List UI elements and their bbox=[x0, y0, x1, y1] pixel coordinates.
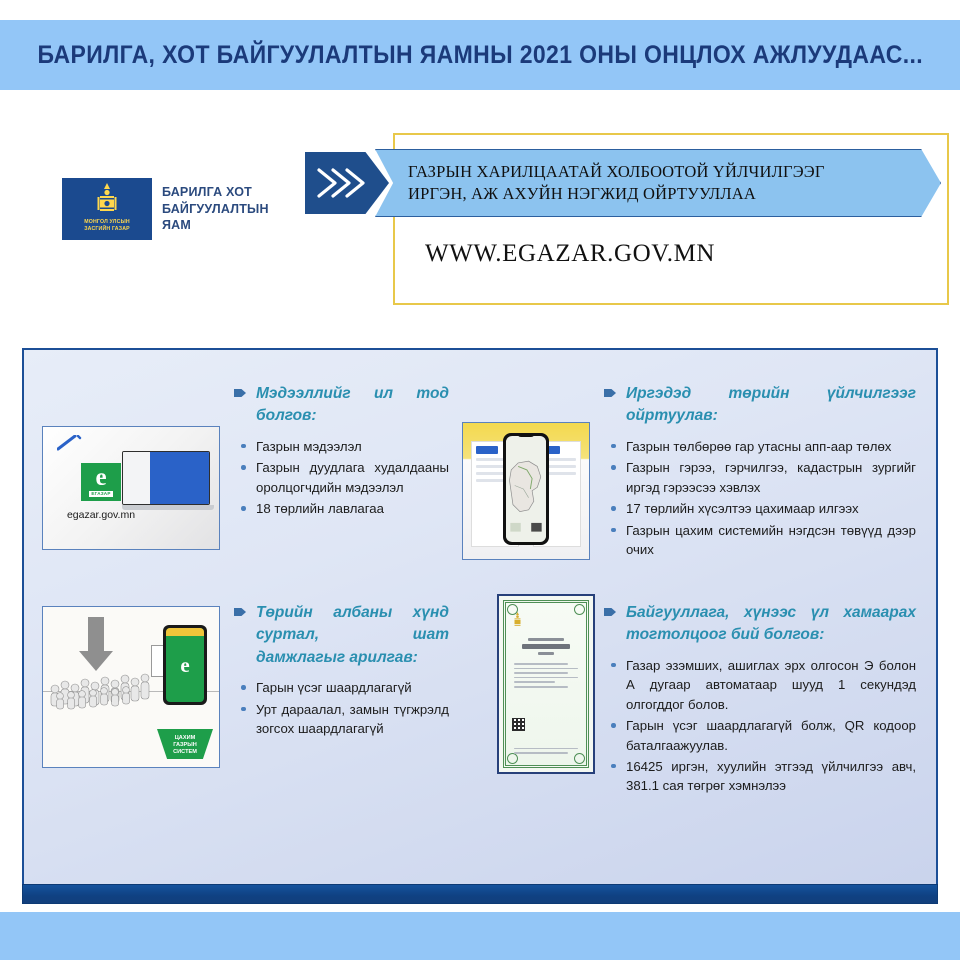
cert-field-line bbox=[514, 663, 568, 665]
laptop-screen bbox=[122, 451, 210, 505]
app-chip bbox=[476, 446, 498, 454]
soyombo-icon bbox=[94, 183, 120, 216]
phone-app-logo-letter: e bbox=[180, 653, 189, 678]
ministry-name-line1: БАРИЛГА ХОТ bbox=[162, 184, 269, 201]
laptop-base bbox=[122, 505, 214, 510]
egazar-logo-letter: e bbox=[95, 467, 106, 490]
cert-footer-group bbox=[512, 745, 580, 757]
laptop-screen-right bbox=[150, 452, 209, 504]
block-item-list: Газрын мэдээлэл Газрын дуудлага худалдаа… bbox=[234, 437, 449, 519]
website-url[interactable]: WWW.EGAZAR.GOV.MN bbox=[425, 240, 715, 268]
phone-notch bbox=[517, 433, 535, 437]
content-block-bureaucracy: Төрийн албаны хүнд суртал, шат дамжлагыг… bbox=[234, 602, 449, 741]
headline-line1: ГАЗРЫН ХАРИЛЦААТАЙ ХОЛБООТОЙ ҮЙЛЧИЛГЭЭГ bbox=[408, 161, 825, 183]
cert-field-line bbox=[514, 686, 568, 688]
list-item: Газар эзэмших, ашиглах эрх олгосон Э бол… bbox=[604, 656, 916, 714]
content-block-services-closer: Иргэдэд төрийн үйлчилгээг ойртуулав: Газ… bbox=[604, 383, 916, 561]
block-heading-row: Мэдээллийг ил тод болгов: bbox=[234, 383, 449, 428]
block-heading: Иргэдэд төрийн үйлчилгээг ойртуулав: bbox=[626, 383, 916, 428]
headline-arrow-banner: ГАЗРЫН ХАРИЛЦААТАЙ ХОЛБООТОЙ ҮЙЛЧИЛГЭЭГ … bbox=[375, 149, 941, 217]
image-land-certificate bbox=[497, 594, 595, 774]
cert-corner-ornament bbox=[574, 604, 585, 615]
page-title: БАРИЛГА, ХОТ БАЙГУУЛАЛТЫН ЯАМНЫ 2021 ОНЫ… bbox=[37, 41, 922, 70]
content-block-transparency: Мэдээллийг ил тод болгов: Газрын мэдээлэ… bbox=[234, 383, 449, 521]
list-item: Гарын үсэг шаардлагагүй болж, QR кодоор … bbox=[604, 716, 916, 755]
block-item-list: Газар эзэмших, ашиглах эрх олгосон Э бол… bbox=[604, 656, 916, 796]
image-queue-vs-app: e ЦАХИМ ГАЗРЫН СИСТЕМ bbox=[42, 606, 220, 768]
mongolia-map-icon bbox=[506, 436, 546, 542]
cert-field-line bbox=[514, 668, 578, 670]
ministry-name-line3: ЯАМ bbox=[162, 217, 269, 234]
smartphone-mockup bbox=[503, 433, 549, 545]
phone-app-topbar bbox=[166, 628, 204, 636]
cert-corner-ornament bbox=[507, 604, 518, 615]
arrow-bullet-icon bbox=[604, 389, 616, 397]
arrow-bullet-icon bbox=[234, 608, 246, 616]
cert-number-line bbox=[538, 652, 554, 655]
digital-land-system-badge: ЦАХИМ ГАЗРЫН СИСТЕМ bbox=[157, 729, 213, 759]
cert-field-group bbox=[512, 663, 580, 688]
phone-app-mockup: e bbox=[163, 625, 207, 705]
list-item: Газрын төлбөрөө гар утасны апп-аар төлөх bbox=[604, 437, 916, 456]
image-mobile-map-app bbox=[462, 422, 590, 560]
block-heading-row: Төрийн албаны хүнд суртал, шат дамжлагыг… bbox=[234, 602, 449, 669]
list-item: Газрын гэрээ, гэрчилгээ, кадастрын зурги… bbox=[604, 458, 916, 497]
page-footer-band bbox=[0, 912, 960, 960]
block-heading: Төрийн албаны хүнд суртал, шат дамжлагыг… bbox=[256, 602, 449, 669]
qr-code-icon bbox=[512, 718, 525, 731]
state-emblem: МОНГОЛ УЛСЫН ЗАСГИЙН ГАЗАР bbox=[62, 178, 152, 240]
block-heading: Мэдээллийг ил тод болгов: bbox=[256, 383, 449, 428]
badge-line1: ЦАХИМ bbox=[157, 735, 213, 742]
arrow-bullet-icon bbox=[604, 608, 616, 616]
list-item: Газрын дуудлага худалдааны оролцогчдийн … bbox=[234, 458, 449, 497]
emblem-caption-line2: ЗАСГИЙН ГАЗАР bbox=[62, 226, 152, 234]
ministry-name-line2: БАЙГУУЛАЛТЫН bbox=[162, 201, 269, 218]
list-item: Урт дараалал, замын түгжрэлд зогсох шаар… bbox=[234, 700, 449, 739]
content-block-independent-system: Байгууллага, хүнээс үл хамаарах тогтолцо… bbox=[604, 602, 916, 798]
ministry-logo: МОНГОЛ УЛСЫН ЗАСГИЙН ГАЗАР БАРИЛГА ХОТ Б… bbox=[62, 178, 269, 240]
cert-title-line bbox=[522, 644, 570, 649]
block-heading-row: Байгууллага, хүнээс үл хамаарах тогтолцо… bbox=[604, 602, 916, 647]
panel-footer-bar bbox=[22, 884, 938, 904]
triple-chevron-icon bbox=[305, 152, 389, 214]
certificate-body bbox=[503, 600, 589, 768]
block-heading-row: Иргэдэд төрийн үйлчилгээг ойртуулав: bbox=[604, 383, 916, 428]
list-item: Газрын мэдээлэл bbox=[234, 437, 449, 456]
egazar-logo-tag: ЕГАЗАР bbox=[89, 491, 112, 497]
laptop-screen-left bbox=[123, 452, 150, 504]
list-item: 18 төрлийн лавлагаа bbox=[234, 499, 449, 518]
block-item-list: Газрын төлбөрөө гар утасны апп-аар төлөх… bbox=[604, 437, 916, 559]
emblem-caption: МОНГОЛ УЛСЫН ЗАСГИЙН ГАЗАР bbox=[62, 219, 152, 234]
badge-line2: ГАЗРЫН bbox=[157, 742, 213, 749]
crowd-icon bbox=[47, 663, 163, 711]
list-item: Гарын үсэг шаардлагагүй bbox=[234, 678, 449, 697]
phone-app-screen: e bbox=[166, 628, 204, 702]
cert-field-line bbox=[514, 672, 568, 674]
cert-field-line bbox=[514, 677, 578, 679]
block-item-list: Гарын үсэг шаардлагагүй Урт дараалал, за… bbox=[234, 678, 449, 738]
laptop-mockup bbox=[122, 451, 214, 521]
swoosh-icon bbox=[57, 435, 83, 451]
cert-field-line bbox=[514, 681, 555, 683]
headline-text: ГАЗРЫН ХАРИЛЦААТАЙ ХОЛБООТОЙ ҮЙЛЧИЛГЭЭГ … bbox=[376, 161, 867, 205]
image-egazar-website: e ЕГАЗАР egazar.gov.mn bbox=[42, 426, 220, 550]
headline-line2: ИРГЭН, АЖ АХУЙН НЭГЖИД ОЙРТУУЛЛАА bbox=[408, 183, 825, 205]
egazar-logo: e ЕГАЗАР bbox=[81, 463, 121, 501]
chevron-arrows-block bbox=[305, 152, 389, 214]
cert-footer-line bbox=[514, 748, 578, 750]
badge-line3: СИСТЕМ bbox=[157, 749, 213, 756]
phone-screen bbox=[506, 436, 546, 542]
block-heading: Байгууллага, хүнээс үл хамаарах тогтолцо… bbox=[626, 602, 916, 647]
cert-footer-line bbox=[514, 752, 568, 754]
list-item: 17 төрлийн хүсэлтээ цахимаар илгээх bbox=[604, 499, 916, 518]
page-title-band: БАРИЛГА, ХОТ БАЙГУУЛАЛТЫН ЯАМНЫ 2021 ОНЫ… bbox=[0, 20, 960, 90]
list-item: 16425 иргэн, хуулийн этгээд үйлчилгээ ав… bbox=[604, 757, 916, 796]
ministry-name: БАРИЛГА ХОТ БАЙГУУЛАЛТЫН ЯАМ bbox=[162, 184, 269, 234]
list-item: Газрын цахим системийн нэгдсэн төвүүд дэ… bbox=[604, 521, 916, 560]
arrow-bullet-icon bbox=[234, 389, 246, 397]
cert-subtitle-line bbox=[528, 638, 564, 641]
